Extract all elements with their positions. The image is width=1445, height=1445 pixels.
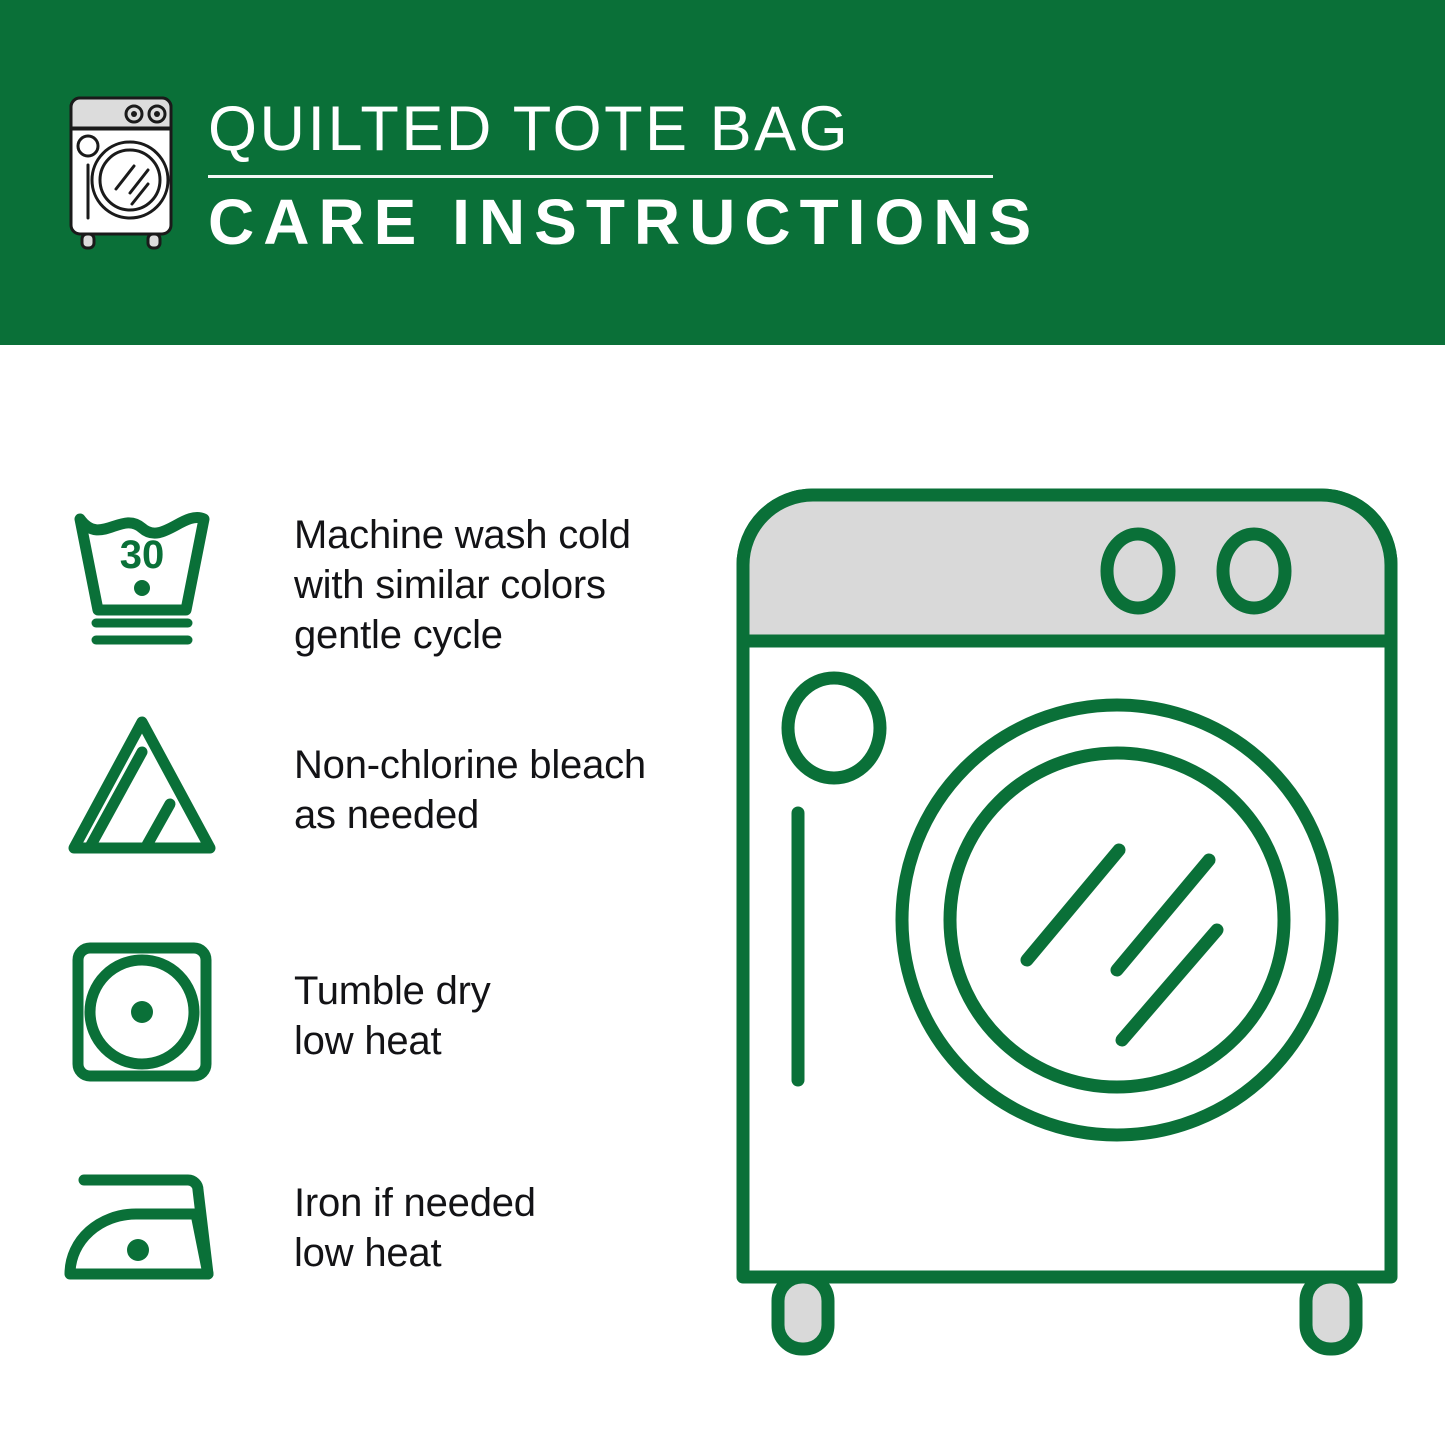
page-subtitle: CARE INSTRUCTIONS: [208, 189, 1040, 256]
care-label: Non-chlorine bleach as needed: [294, 704, 702, 840]
care-label: Iron if needed low heat: [294, 1144, 702, 1278]
wash-temperature-value: 30: [120, 533, 165, 577]
page-title: QUILTED TOTE BAG: [208, 96, 1040, 162]
header-banner: QUILTED TOTE BAG CARE INSTRUCTIONS: [0, 0, 1445, 345]
wash-tub-30-icon: 30: [62, 492, 222, 652]
washing-machine-icon: [62, 92, 180, 252]
leg-right: [1306, 1277, 1356, 1349]
control-panel: [743, 495, 1391, 641]
header-content: QUILTED TOTE BAG CARE INSTRUCTIONS: [62, 92, 1040, 256]
care-label: Tumble dry low heat: [294, 932, 702, 1066]
leg-left: [778, 1277, 828, 1349]
tumble-dry-low-icon: [62, 932, 222, 1092]
care-row: Iron if needed low heat: [62, 1144, 702, 1304]
care-row: Tumble dry low heat: [62, 932, 702, 1092]
care-instructions-page: QUILTED TOTE BAG CARE INSTRUCTIONS 30: [0, 0, 1445, 1445]
title-divider: [208, 175, 993, 178]
iron-low-heat-icon: [62, 1144, 222, 1304]
header-title-group: QUILTED TOTE BAG CARE INSTRUCTIONS: [208, 92, 1040, 256]
care-row: 30 Machine wash cold with similar colors…: [62, 492, 702, 660]
bleach-triangle-icon: [62, 704, 222, 864]
care-row: Non-chlorine bleach as needed: [62, 704, 702, 864]
front-load-washing-machine-illustration: [727, 480, 1407, 1370]
care-label: Machine wash cold with similar colors ge…: [294, 492, 702, 660]
